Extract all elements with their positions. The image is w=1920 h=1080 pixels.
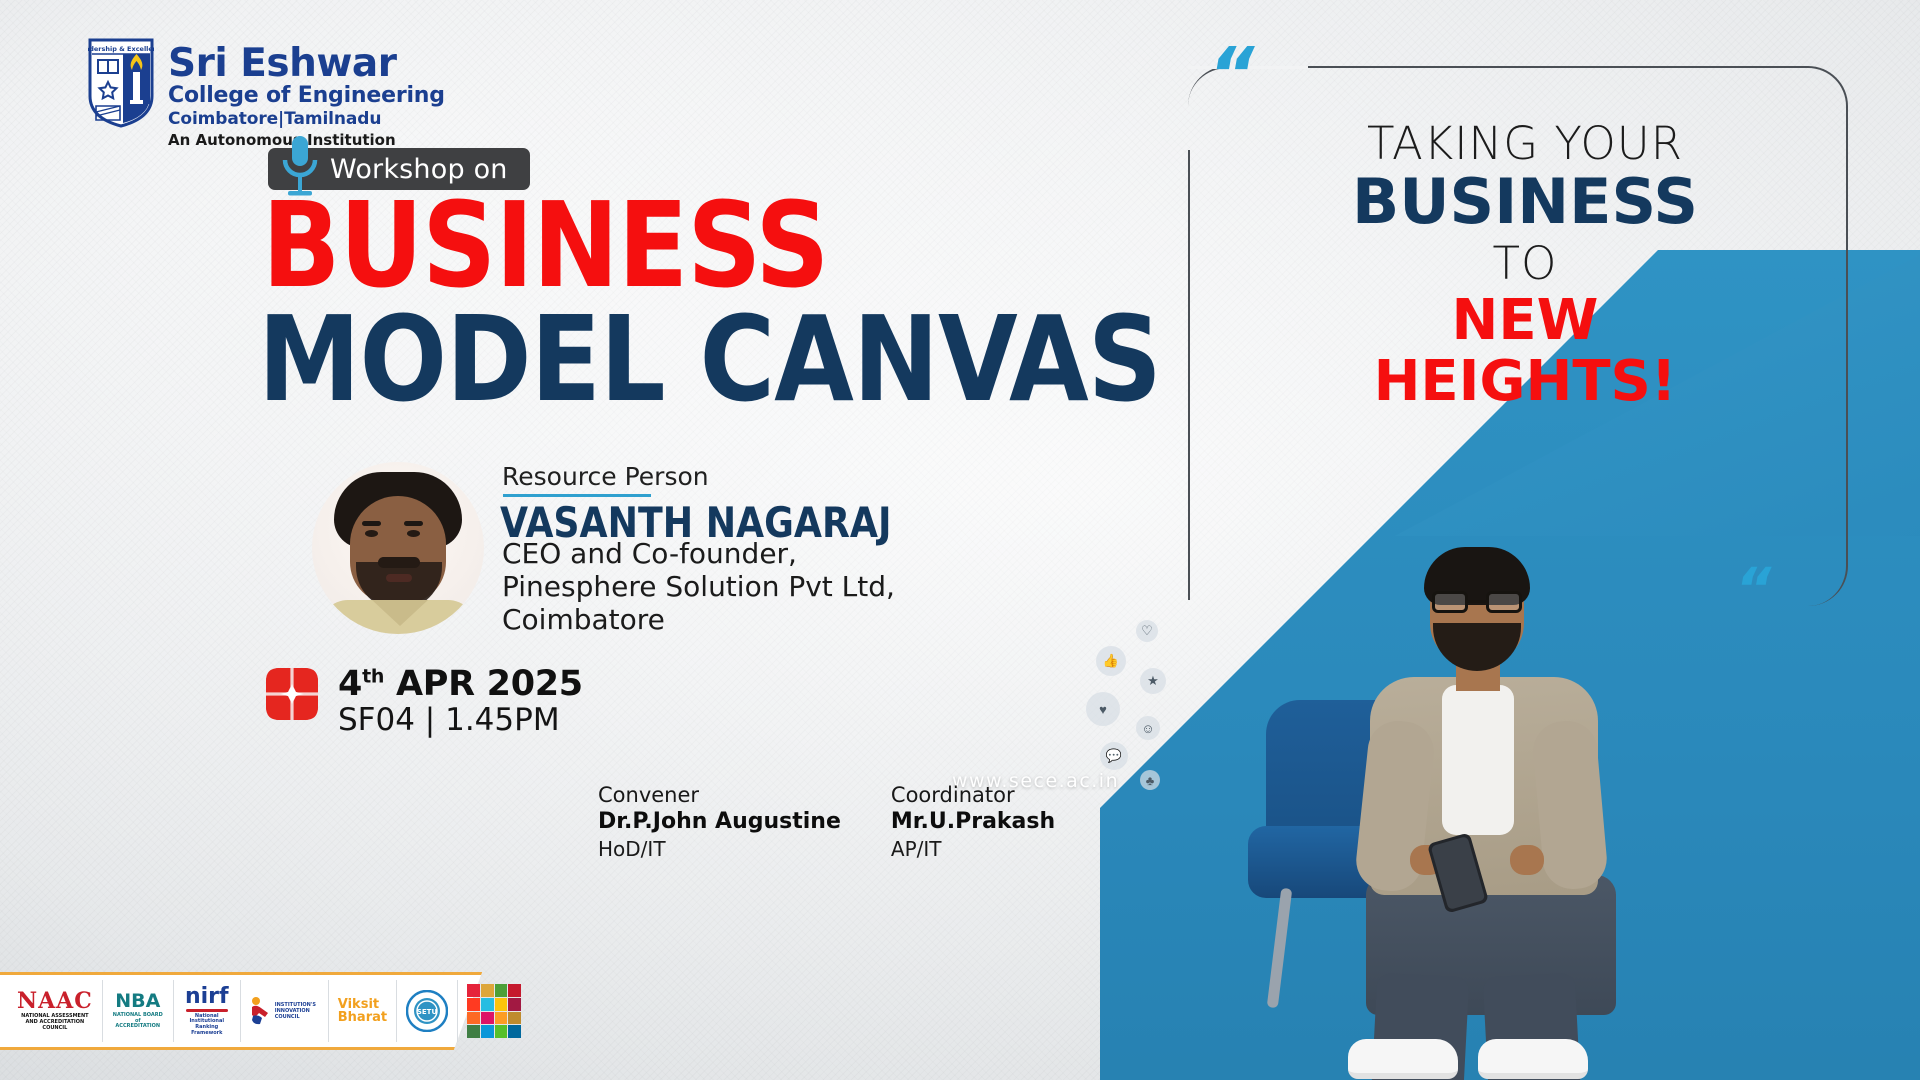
nirf-label: nirf (185, 986, 229, 1008)
accreditation-logo-naac: NAAC NATIONAL ASSESSMENT AND ACCREDITATI… (8, 980, 103, 1042)
iic-figure-icon (250, 996, 272, 1026)
tagline-line2: BUSINESS (1290, 167, 1760, 236)
tagline-line1: TAKING YOUR (1290, 120, 1760, 167)
tagline-line5: HEIGHTS! (1290, 351, 1760, 413)
resource-person-underline (503, 494, 651, 497)
event-day: 4 (338, 664, 362, 704)
person-photo (1270, 545, 1690, 1080)
organizer-name: Dr.P.John Augustine (598, 808, 841, 837)
organizer-coordinator: Coordinator Mr.U.Prakash AP/IT (891, 782, 1055, 862)
naac-subtitle: NATIONAL ASSESSMENT AND ACCREDITATION CO… (18, 1014, 92, 1031)
tagline-frame-left-rule (1188, 150, 1190, 600)
organizer-dept: AP/IT (891, 837, 1055, 862)
accreditation-logo-nba: NBA NATIONAL BOARD of ACCREDITATION (103, 980, 174, 1042)
college-name-line1: Sri Eshwar (168, 44, 445, 83)
tagline-line3: TO (1290, 237, 1760, 290)
organizer-name: Mr.U.Prakash (891, 808, 1055, 837)
organizers-block: Convener Dr.P.John Augustine HoD/IT Coor… (598, 782, 1055, 862)
accreditation-logo-iic: INSTITUTION'S INNOVATION COUNCIL (241, 980, 329, 1042)
college-logo: Leadership & Excellence Sri Eshwar Colle… (88, 38, 445, 149)
event-title-line1: BUSINESS (262, 186, 829, 304)
college-name-line2: College of Engineering (168, 83, 445, 109)
affiliation-line3: Coimbatore (502, 604, 895, 637)
accreditation-strip: NAAC NATIONAL ASSESSMENT AND ACCREDITATI… (0, 972, 448, 1050)
calendar-quadrant-icon (266, 668, 318, 720)
nba-subtitle: NATIONAL BOARD of ACCREDITATION (112, 1013, 164, 1030)
organizer-role: Coordinator (891, 782, 1055, 808)
tagline-line4: NEW (1290, 290, 1760, 352)
svg-text:Leadership & Excellence: Leadership & Excellence (88, 45, 154, 53)
naac-label: NAAC (17, 990, 93, 1012)
nba-label: NBA (115, 992, 160, 1011)
accreditation-logo-nirf: nirf National Institutional Ranking Fram… (174, 980, 241, 1042)
event-venue-time: SF04 | 1.45PM (338, 702, 560, 738)
organizer-dept: HoD/IT (598, 837, 841, 862)
event-day-suffix: th (362, 665, 384, 687)
event-date: 4th APR 2025 (338, 664, 583, 704)
nirf-subtitle: National Institutional Ranking Framework (183, 1014, 231, 1037)
speaker-avatar (312, 462, 484, 634)
svg-text:SETU: SETU (417, 1008, 438, 1016)
organizer-role: Convener (598, 782, 841, 808)
affiliation-line1: CEO and Co-founder, (502, 538, 895, 571)
accreditation-logo-viksit-bharat: Viksit Bharat (329, 980, 397, 1042)
accreditation-logo-sdg (458, 980, 530, 1042)
resource-person-label: Resource Person (502, 462, 709, 491)
organizer-convener: Convener Dr.P.John Augustine HoD/IT (598, 782, 841, 862)
college-name-line3: Coimbatore|Tamilnadu (168, 109, 445, 130)
viksit-bharat-label: Viksit Bharat (338, 998, 387, 1024)
event-title-line2: MODEL CANVAS (258, 300, 1161, 418)
accreditation-logo-setu: SETU (397, 980, 458, 1042)
college-wordmark: Sri Eshwar College of Engineering Coimba… (168, 38, 445, 149)
setu-seal-icon: SETU (406, 990, 448, 1032)
iic-subtitle: INSTITUTION'S INNOVATION COUNCIL (275, 1003, 319, 1020)
event-month-year: APR 2025 (384, 664, 583, 704)
college-shield-icon: Leadership & Excellence (88, 38, 154, 128)
affiliation-line2: Pinesphere Solution Pvt Ltd, (502, 571, 895, 604)
tagline-block: TAKING YOUR BUSINESS TO NEW HEIGHTS! (1290, 120, 1760, 413)
resource-person-affiliation: CEO and Co-founder, Pinesphere Solution … (502, 538, 895, 636)
sdg-goals-grid (467, 984, 521, 1038)
